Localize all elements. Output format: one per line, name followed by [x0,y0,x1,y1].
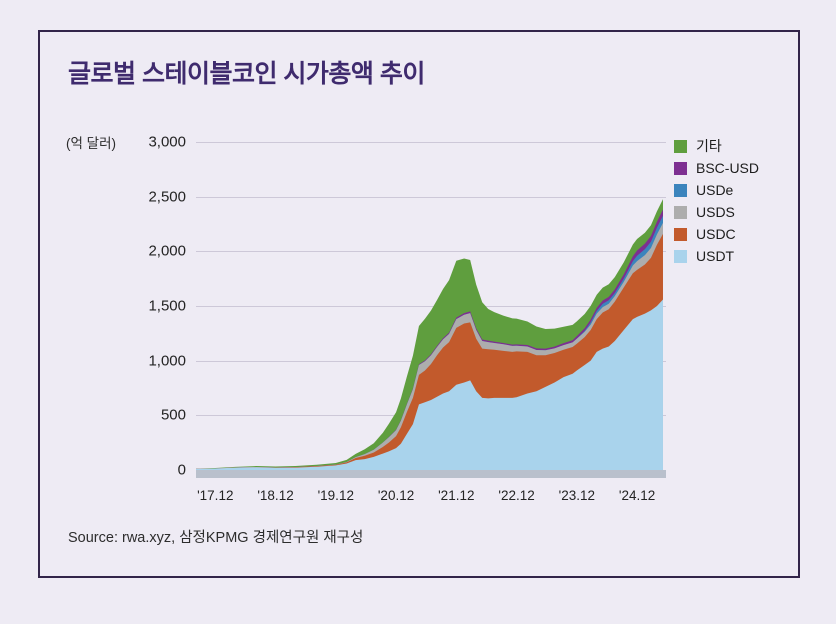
legend-swatch-icon [674,184,687,197]
page-title: 글로벌 스테이블코인 시가총액 추이 [68,54,425,90]
legend-swatch-icon [674,250,687,263]
legend-label: 기타 [696,136,722,156]
legend-item[interactable]: USDS [674,202,794,222]
legend-swatch-icon [674,206,687,219]
legend-swatch-icon [674,140,687,153]
y-axis-tick-label: 500 [161,407,186,424]
x-axis-tick-label: '23.12 [559,488,595,503]
x-axis-tick-label: '17.12 [197,488,233,503]
plot-area: 05001,0001,5002,0002,5003,000 '17.12'18.… [196,142,666,470]
source-note: Source: rwa.xyz, 삼정KPMG 경제연구원 재구성 [68,526,363,547]
x-axis-tick-label: '21.12 [438,488,474,503]
legend-label: USDe [696,182,733,198]
stacked-area-series [196,142,666,470]
legend-item[interactable]: USDT [674,246,794,266]
y-axis-tick-label: 2,500 [148,188,186,205]
legend-label: USDS [696,204,735,220]
legend-swatch-icon [674,228,687,241]
x-axis-tick-label: '22.12 [498,488,534,503]
legend-label: USDT [696,248,734,264]
legend-label: BSC-USD [696,160,759,176]
y-axis-tick-label: 0 [178,462,186,479]
legend-label: USDC [696,226,736,242]
legend-item[interactable]: BSC-USD [674,158,794,178]
x-axis-tick-label: '20.12 [378,488,414,503]
y-axis-tick-label: 2,000 [148,243,186,260]
y-axis-unit-label: (억 달러) [66,132,116,152]
legend-swatch-icon [674,162,687,175]
chart-card: 글로벌 스테이블코인 시가총액 추이 (억 달러) 05001,0001,500… [38,30,800,578]
legend: 기타BSC-USDUSDeUSDSUSDCUSDT [674,136,794,268]
y-axis-tick-label: 1,500 [148,298,186,315]
legend-item[interactable]: 기타 [674,136,794,156]
x-axis-tick-label: '24.12 [619,488,655,503]
legend-item[interactable]: USDe [674,180,794,200]
x-axis-tick-label: '19.12 [318,488,354,503]
x-axis-tick-label: '18.12 [257,488,293,503]
legend-item[interactable]: USDC [674,224,794,244]
axis-baseline [196,470,666,478]
y-axis-tick-label: 3,000 [148,134,186,151]
y-axis-tick-label: 1,000 [148,352,186,369]
